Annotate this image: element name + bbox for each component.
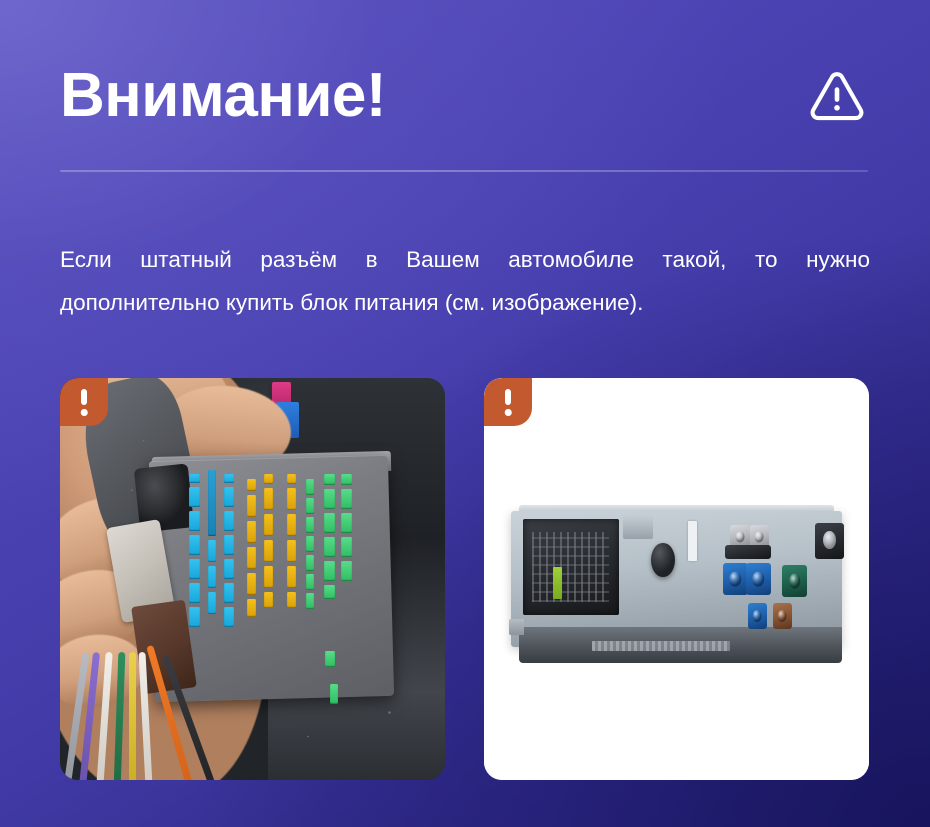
exclamation-icon — [505, 389, 511, 405]
attention-banner: Внимание! Если штатный разъём в Вашем ав… — [0, 0, 930, 827]
exclamation-badge — [60, 378, 108, 426]
card-connector-photo[interactable] — [60, 378, 445, 780]
card-power-supply-photo[interactable] — [484, 378, 869, 780]
connector-photo-image — [60, 378, 445, 780]
exclamation-dot — [505, 409, 512, 416]
banner-header: Внимание! — [60, 50, 868, 142]
notice-text: Если штатный разъём в Вашем автомобиле т… — [60, 238, 870, 324]
exclamation-icon — [81, 389, 87, 405]
notice-text-line-2: дополнительно купить блок питания (см. и… — [60, 281, 870, 324]
wire-bundle — [60, 659, 276, 780]
image-card-row — [60, 378, 868, 780]
exclamation-badge — [484, 378, 532, 426]
exclamation-dot — [81, 409, 88, 416]
page-title: Внимание! — [60, 65, 386, 127]
header-divider — [60, 170, 868, 172]
notice-text-line-1: Если штатный разъём в Вашем автомобиле т… — [60, 238, 870, 281]
warning-triangle-icon — [806, 65, 868, 127]
power-supply-photo-image — [484, 378, 869, 780]
